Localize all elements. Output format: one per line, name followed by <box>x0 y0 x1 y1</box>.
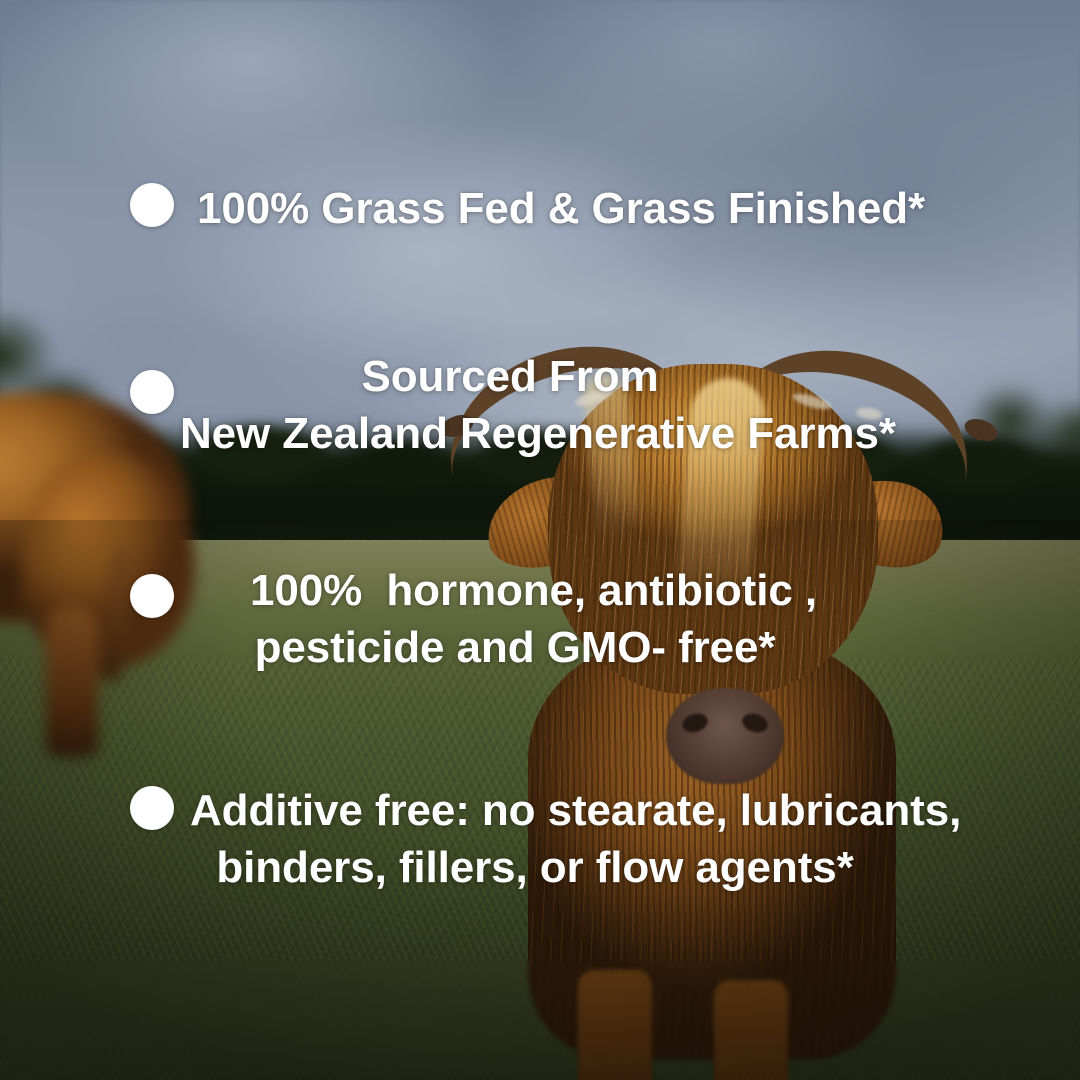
product-claims-image: 100% Grass Fed & Grass Finished* Sourced… <box>0 0 1080 1080</box>
bullet-text-hormone-free-line1: 100% hormone, antibiotic , <box>250 562 780 619</box>
bullet-text-additive-free-line2: binders, fillers, or flow agents* <box>190 839 880 896</box>
bullet-text-grass-fed: 100% Grass Fed & Grass Finished* <box>197 180 925 237</box>
bullet-dot-sourced-nz <box>130 370 174 414</box>
bullet-dot-additive-free <box>130 786 174 830</box>
claims-overlay: 100% Grass Fed & Grass Finished* Sourced… <box>0 0 1080 1080</box>
bullet-text-sourced-nz-line1: Sourced From <box>180 348 840 405</box>
bullet-text-hormone-free-line2: pesticide and GMO- free* <box>250 619 780 676</box>
bullet-text-sourced-nz-line2: New Zealand Regenerative Farms* <box>180 405 840 462</box>
bullet-dot-grass-fed <box>130 183 174 227</box>
bullet-dot-hormone-free <box>130 574 174 618</box>
bullet-text-additive-free-line1: Additive free: no stearate, lubricants, <box>190 782 880 839</box>
